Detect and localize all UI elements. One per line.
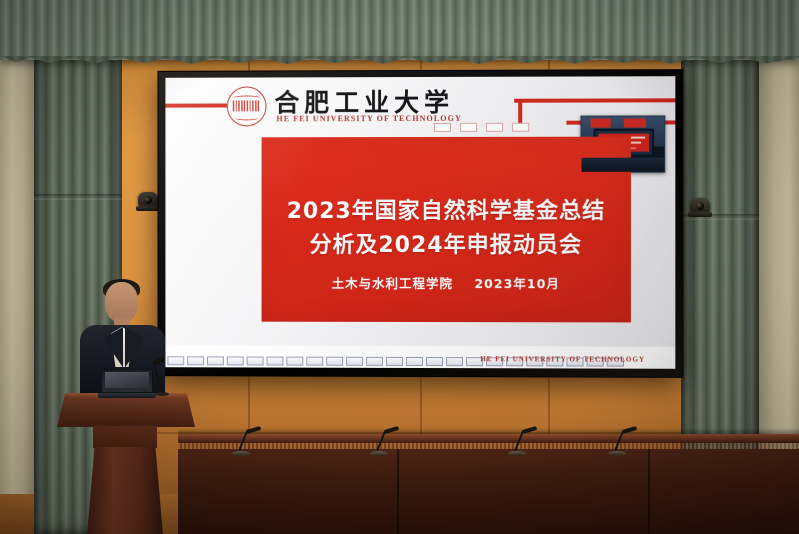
university-name-en: HE FEI UNIVERSITY OF TECHNOLOGY xyxy=(276,114,461,123)
university-seal-icon xyxy=(227,86,267,126)
table-top-edge xyxy=(178,434,799,443)
speaker-head xyxy=(105,282,138,322)
footer-university-en: HE FEI UNIVERSITY OF TECHNOLOGY xyxy=(480,355,645,364)
projection-screen[interactable]: 合肥工业大学 HE FEI UNIVERSITY OF TECHNOLOGY xyxy=(159,70,683,377)
laptop[interactable] xyxy=(101,369,153,393)
curtain-tie-line xyxy=(34,194,122,200)
laptop-screen xyxy=(105,372,149,388)
slide-subtitle: 土木与水利工程学院 2023年10月 xyxy=(262,273,631,292)
curtain-valance xyxy=(0,0,799,60)
footer-red-strip xyxy=(165,367,675,369)
slide-title-block: 2023年国家自然科学基金总结 分析及2024年申报动员会 土木与水利工程学院 … xyxy=(262,137,631,323)
ptz-camera-icon-left xyxy=(138,192,160,211)
header-accent-line-left xyxy=(165,103,226,107)
table-front-panel xyxy=(178,449,799,534)
header-tick-boxes xyxy=(434,123,529,132)
podium-column xyxy=(87,447,163,534)
slide-title-line2: 分析及2024年申报动员会 xyxy=(262,229,631,263)
conference-table xyxy=(178,434,799,534)
podium-top xyxy=(57,393,195,427)
slide-title-line1: 2023年国家自然科学基金总结 xyxy=(262,195,631,229)
conference-room-photo: 合肥工业大学 HE FEI UNIVERSITY OF TECHNOLOGY xyxy=(0,0,799,534)
slide-footer: HE FEI UNIVERSITY OF TECHNOLOGY xyxy=(165,345,675,368)
header-accent-drop xyxy=(518,99,522,125)
header-accent-line-right xyxy=(514,98,675,102)
presentation-slide: 合肥工业大学 HE FEI UNIVERSITY OF TECHNOLOGY xyxy=(165,76,675,369)
wall-pilaster-left xyxy=(0,0,34,534)
podium-neck xyxy=(93,426,157,448)
slide-title: 2023年国家自然科学基金总结 分析及2024年申报动员会 xyxy=(262,195,631,263)
lectern-podium xyxy=(57,393,195,427)
ptz-camera-icon-right xyxy=(690,198,712,217)
